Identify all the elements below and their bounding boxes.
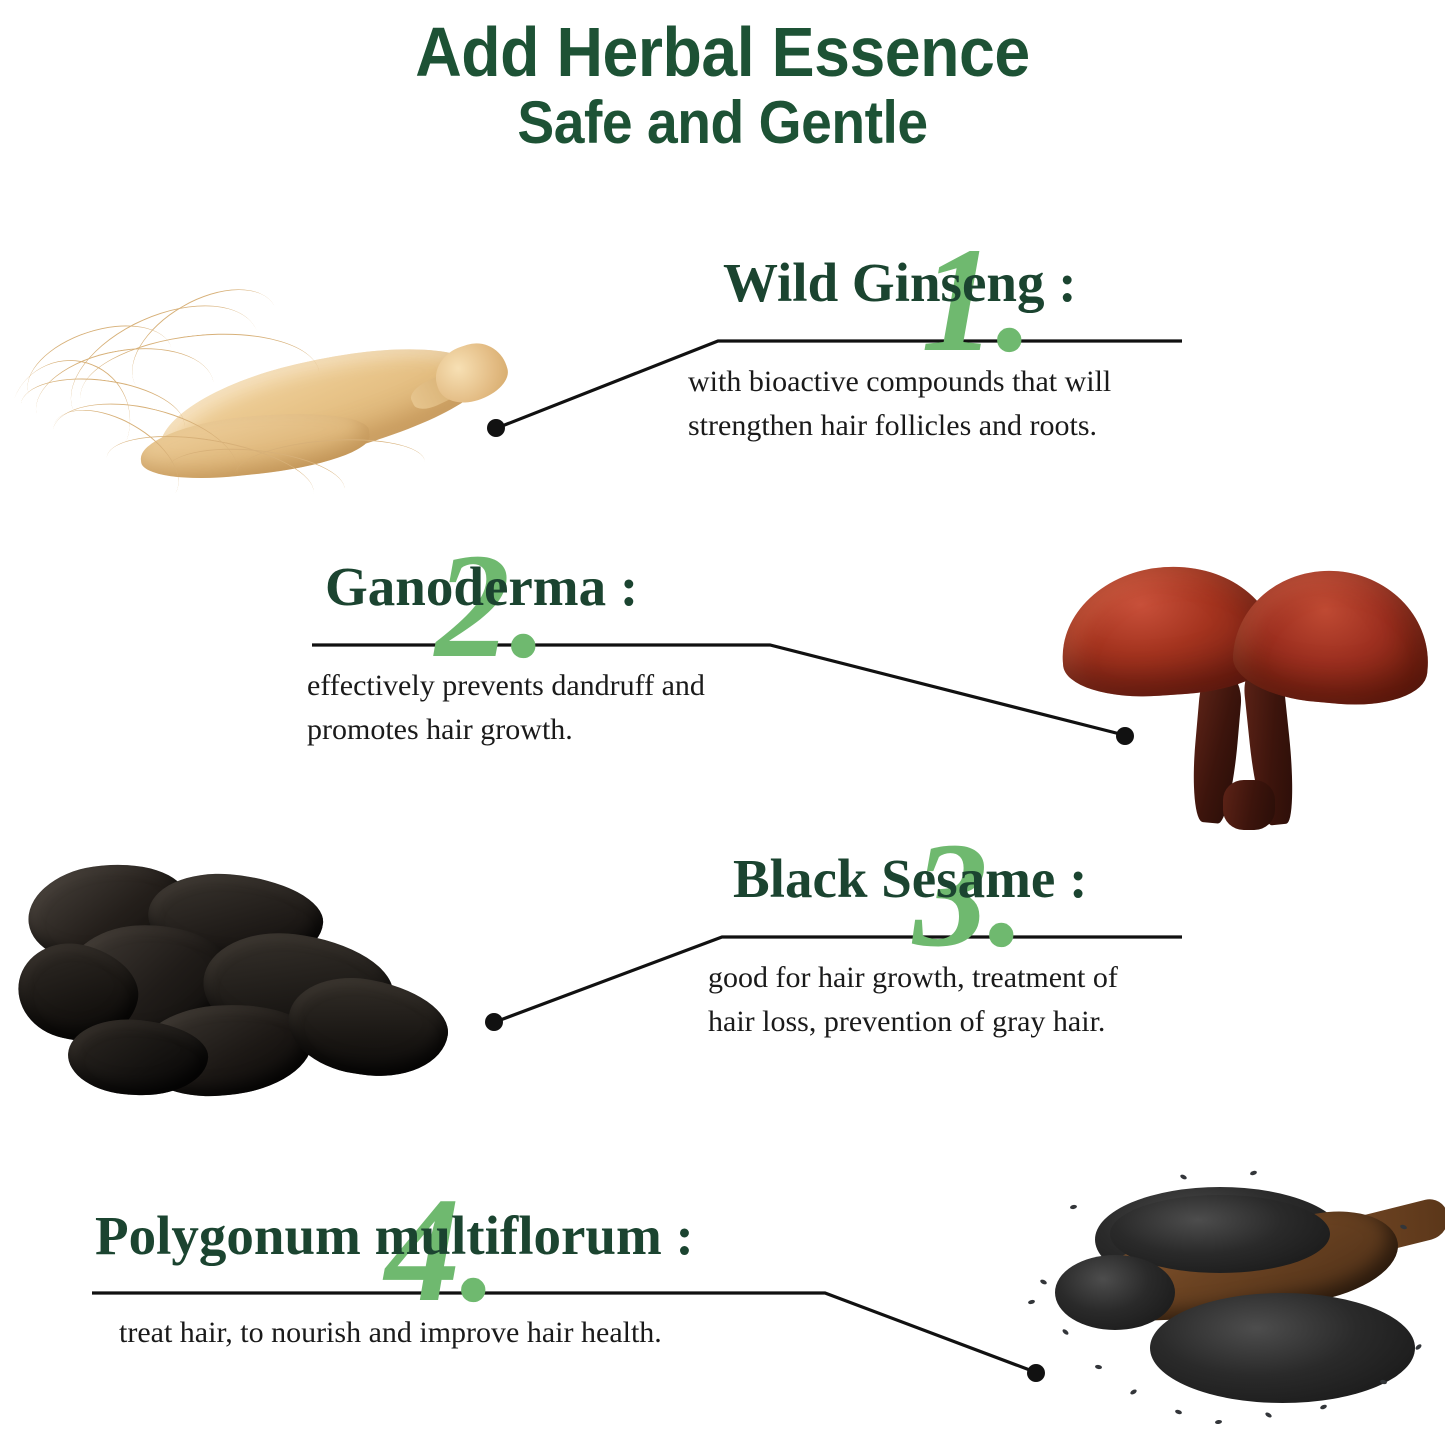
ingredient-3-title: Black Sesame :: [733, 848, 1118, 910]
sesame-seed: [1264, 1411, 1272, 1418]
black-sesame-seeds-scoop-photo: [1000, 1165, 1445, 1445]
sesame-seed: [1215, 1420, 1222, 1425]
sesame-seed: [1415, 1343, 1423, 1351]
sesame-seed: [1129, 1389, 1137, 1396]
ingredient-3-description: good for hair growth, treatment of hair …: [708, 956, 1118, 1044]
ingredient-2-description-line-1: effectively prevents dandruff and: [307, 664, 705, 708]
ingredient-1-description-line-2: strengthen hair follicles and roots.: [688, 404, 1111, 448]
ingredient-item-4: 4. Polygonum multiflorum : treat hair, t…: [95, 1205, 694, 1355]
sesame-seed: [1095, 1364, 1103, 1369]
ingredient-1-heading-wrap: 1. Wild Ginseng :: [723, 252, 1111, 314]
sesame-seed: [1062, 1328, 1070, 1336]
ganoderma-reishi-mushroom-photo: [1045, 545, 1435, 830]
ingredient-2-title: Ganoderma :: [325, 556, 705, 618]
ingredient-item-1: 1. Wild Ginseng : with bioactive compoun…: [723, 252, 1111, 448]
infographic-root: Add Herbal Essence Safe and Gentle: [0, 0, 1445, 1445]
ingredient-2-description: effectively prevents dandruff and promot…: [307, 664, 705, 752]
sesame-seed: [1250, 1170, 1258, 1176]
sesame-mound-front: [1150, 1293, 1415, 1403]
connector-dot-3: [485, 1013, 503, 1031]
wild-ginseng-root-photo: [5, 290, 505, 510]
ingredient-4-description: treat hair, to nourish and improve hair …: [119, 1311, 694, 1355]
sesame-seed: [1179, 1174, 1187, 1181]
sesame-seed: [1028, 1299, 1036, 1305]
ingredient-1-title: Wild Ginseng :: [723, 252, 1111, 314]
ingredient-4-title: Polygonum multiflorum :: [95, 1205, 694, 1267]
ingredient-3-heading-wrap: 3. Black Sesame :: [733, 848, 1118, 910]
title-line-2: Safe and Gentle: [58, 90, 1387, 156]
ingredient-item-2: 2. Ganoderma : effectively prevents dand…: [325, 556, 705, 752]
sesame-seed: [1039, 1279, 1047, 1286]
sesame-mound-left: [1055, 1255, 1175, 1330]
ingredient-2-description-line-2: promotes hair growth.: [307, 708, 705, 752]
ingredient-1-description-line-1: with bioactive compounds that will: [688, 360, 1111, 404]
sesame-seed: [1175, 1409, 1183, 1415]
ingredient-4-heading-wrap: 4. Polygonum multiflorum :: [95, 1205, 694, 1267]
ingredient-4-description-line-1: treat hair, to nourish and improve hair …: [119, 1311, 694, 1355]
ingredient-3-description-line-2: hair loss, prevention of gray hair.: [708, 1000, 1118, 1044]
ingredient-3-description-line-1: good for hair growth, treatment of: [708, 956, 1118, 1000]
reishi-stem-base: [1223, 780, 1275, 830]
title-line-1: Add Herbal Essence: [58, 14, 1387, 90]
sesame-seed: [1320, 1404, 1328, 1410]
ingredient-item-3: 3. Black Sesame : good for hair growth, …: [733, 848, 1118, 1044]
dried-black-slices-photo: [8, 855, 468, 1105]
ingredient-1-description: with bioactive compounds that will stren…: [688, 360, 1111, 448]
sesame-seed: [1070, 1204, 1078, 1209]
ingredient-2-heading-wrap: 2. Ganoderma :: [325, 556, 705, 618]
page-title: Add Herbal Essence Safe and Gentle: [0, 14, 1445, 156]
